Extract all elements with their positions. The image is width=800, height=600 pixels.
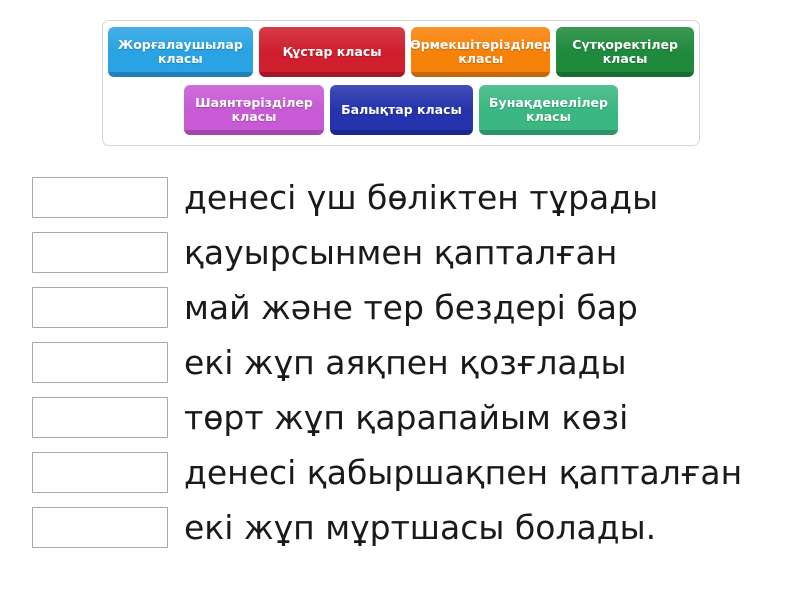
- tile-label: Бунақденелілер класы: [486, 96, 611, 124]
- answer-row: денесі үш бөліктен тұрады: [0, 170, 800, 225]
- drop-box[interactable]: [32, 177, 168, 218]
- tile-label: Шаянтәрізділер класы: [191, 96, 317, 124]
- answer-text: денесі үш бөліктен тұрады: [184, 181, 658, 214]
- tile-bank-row-2: Шаянтәрізділер класы Балықтар класы Буна…: [108, 85, 694, 141]
- answer-text: екі жұп мұртшасы болады.: [184, 511, 656, 544]
- drop-box[interactable]: [32, 232, 168, 273]
- answer-row: төрт жұп қарапайым көзі: [0, 390, 800, 445]
- tile-birds[interactable]: Құстар класы: [259, 27, 406, 77]
- answer-text: май және тер бездері бар: [184, 291, 638, 324]
- answer-row: денесі қабыршақпен қапталған: [0, 445, 800, 500]
- tile-label: Өрмекшітәрізділер класы: [411, 38, 550, 66]
- tile-arachnids[interactable]: Өрмекшітәрізділер класы: [411, 27, 550, 77]
- answer-row: қауырсынмен қапталған: [0, 225, 800, 280]
- answer-text: төрт жұп қарапайым көзі: [184, 401, 628, 434]
- tile-label: Құстар класы: [283, 45, 382, 59]
- drop-box[interactable]: [32, 507, 168, 548]
- tile-fish[interactable]: Балықтар класы: [330, 85, 473, 135]
- tile-crustaceans[interactable]: Шаянтәрізділер класы: [184, 85, 324, 135]
- answer-text: денесі қабыршақпен қапталған: [184, 456, 742, 489]
- drop-box[interactable]: [32, 287, 168, 328]
- tile-label: Балықтар класы: [341, 103, 462, 117]
- tile-bank: Жорғалаушылар класы Құстар класы Өрмекші…: [102, 20, 700, 146]
- tile-insects[interactable]: Бунақденелілер класы: [479, 85, 618, 135]
- tile-bank-row-1: Жорғалаушылар класы Құстар класы Өрмекші…: [108, 27, 694, 83]
- answer-row: екі жұп аяқпен қозғлады: [0, 335, 800, 390]
- drop-box[interactable]: [32, 342, 168, 383]
- answer-list: денесі үш бөліктен тұрады қауырсынмен қа…: [0, 170, 800, 555]
- drop-box[interactable]: [32, 397, 168, 438]
- answer-text: қауырсынмен қапталған: [184, 236, 617, 269]
- tile-mammals[interactable]: Сүтқоректілер класы: [556, 27, 694, 77]
- answer-row: екі жұп мұртшасы болады.: [0, 500, 800, 555]
- drop-box[interactable]: [32, 452, 168, 493]
- tile-reptiles[interactable]: Жорғалаушылар класы: [108, 27, 253, 77]
- tile-label: Жорғалаушылар класы: [115, 38, 246, 66]
- answer-row: май және тер бездері бар: [0, 280, 800, 335]
- tile-label: Сүтқоректілер класы: [563, 38, 687, 66]
- answer-text: екі жұп аяқпен қозғлады: [184, 346, 627, 379]
